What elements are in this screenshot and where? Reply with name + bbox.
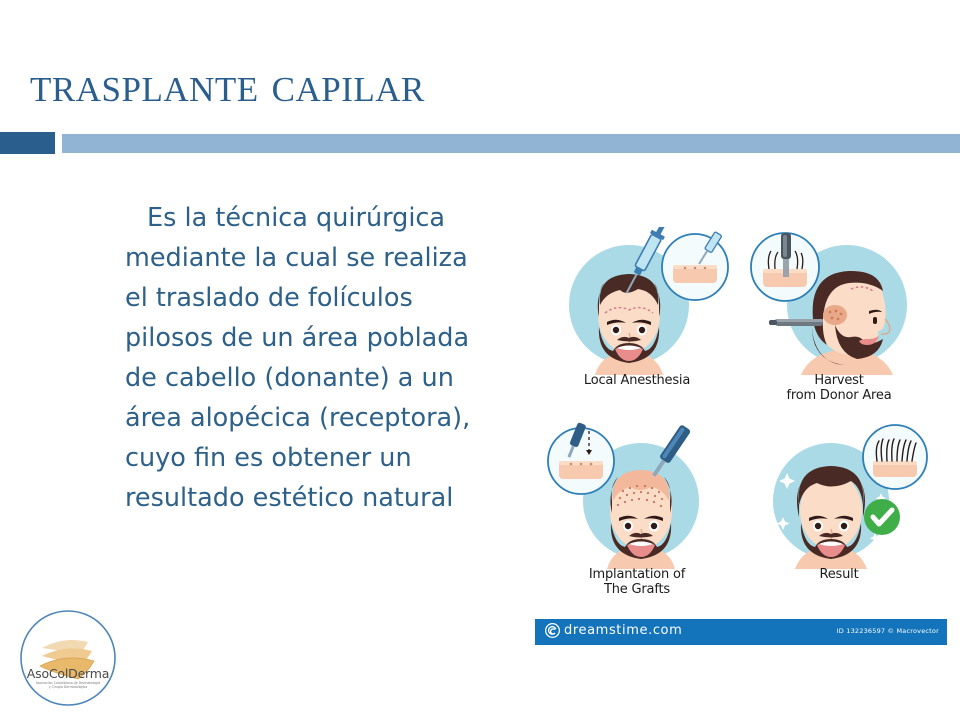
asocolderma-subtitle: Asociación Colombiana de Dermatología y …: [12, 681, 124, 690]
asocolderma-name: AsoColDerma: [12, 666, 124, 681]
panel-result: Result: [739, 421, 939, 611]
head-front-with-syringe-icon: [537, 227, 737, 375]
panel-implantation-of-the-grafts: Implantation of The Grafts: [537, 421, 737, 611]
head-front-with-check-icon: [739, 421, 939, 569]
panel-local-anesthesia: Local Anesthesia: [537, 227, 737, 417]
hair-transplant-illustration: Local Anesthesia: [533, 225, 948, 650]
dreamstime-watermark-bar: dreamstime.com ID 132236597 © Macrovecto…: [535, 619, 947, 645]
head-front-with-implant-pen-icon: [537, 421, 737, 569]
asocolderma-subtitle-line2: y Cirugía Dermatológica: [49, 685, 88, 689]
panel-harvest-from-donor-area: Harvest from Donor Area: [739, 227, 939, 417]
slide-canvas: Trasplante capilar Es la técnica quirúrg…: [0, 0, 960, 720]
divider-accent-block: [0, 132, 55, 154]
divider-bar: [62, 134, 960, 153]
panel-caption: Implantation of The Grafts: [537, 567, 737, 597]
panel-caption: Result: [739, 567, 939, 582]
dreamstime-logo: dreamstime.com: [545, 623, 682, 638]
dreamstime-credit-text: ID 132236597 © Macrovector: [837, 627, 939, 635]
dreamstime-brand-text: dreamstime.com: [564, 623, 682, 638]
dreamstime-spiral-icon: [545, 623, 560, 638]
panel-caption: Harvest from Donor Area: [739, 373, 939, 403]
page-title: Trasplante capilar: [30, 58, 425, 111]
panel-caption: Local Anesthesia: [537, 373, 737, 388]
body-paragraph: Es la técnica quirúrgica mediante la cua…: [60, 198, 490, 518]
asocolderma-subtitle-line1: Asociación Colombiana de Dermatología: [36, 681, 101, 685]
head-profile-with-punch-tool-icon: [739, 227, 939, 375]
asocolderma-logo-mark: [12, 604, 124, 712]
asocolderma-logo: AsoColDerma Asociación Colombiana de Der…: [12, 604, 124, 712]
illustration-panel-grid: Local Anesthesia: [533, 225, 948, 615]
